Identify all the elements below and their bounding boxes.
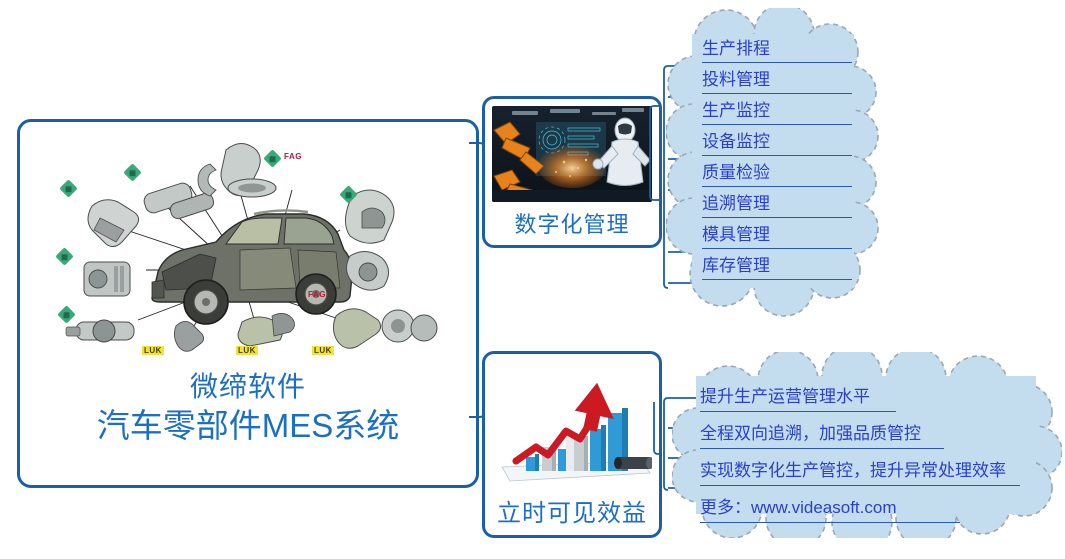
list-item-url[interactable]: 更多：www.videasoft.com [700, 493, 960, 523]
page-title: 微缔软件 汽车零部件MES系统 [20, 370, 476, 446]
brand-tag-luk: LUK [142, 346, 164, 355]
part-cluster-top [142, 143, 276, 220]
part-cluster-left [66, 200, 139, 342]
list-item[interactable]: 设备监控 [702, 127, 852, 156]
main-panel: FAG FAG LUK LUK LUK 微缔软件 汽车零部件MES系统 [17, 119, 479, 488]
brand-tag-luk: LUK [312, 346, 334, 355]
card-digital-management[interactable]: 数字化管理 [482, 96, 662, 248]
card-visible-benefit[interactable]: 立时可见效益 [482, 351, 662, 538]
brand-tag-fag: FAG [284, 152, 302, 161]
part-cluster-right [333, 190, 437, 348]
list-item[interactable]: 投料管理 [702, 65, 852, 94]
list-item[interactable]: 质量检验 [702, 158, 852, 187]
brand-tag-fag: FAG [308, 290, 326, 299]
growth-chart-thumbnail [492, 361, 652, 489]
cloud-benefits: 提升生产运营管理水平 全程双向追溯，加强品质管控 实现数字化生产管控，提升异常处… [672, 352, 1062, 538]
page-title-line-2: 汽车零部件MES系统 [20, 407, 476, 446]
list-item[interactable]: 实现数字化生产管控，提升异常处理效率 [700, 456, 1020, 486]
cloud-benefits-list: 提升生产运营管理水平 全程双向追溯，加强品质管控 实现数字化生产管控，提升异常处… [672, 352, 1062, 538]
car-parts-svg [40, 130, 460, 360]
brand-tag-luk: LUK [236, 346, 258, 355]
cloud-modules-list: 生产排程 投料管理 生产监控 设备监控 质量检验 追溯管理 模具管理 库存管理 [666, 8, 880, 328]
list-item[interactable]: 全程双向追溯，加强品质管控 [700, 419, 944, 449]
car-parts-illustration: FAG FAG LUK LUK LUK [40, 130, 460, 360]
digital-factory-svg [492, 106, 652, 202]
cloud-modules: 生产排程 投料管理 生产监控 设备监控 质量检验 追溯管理 模具管理 库存管理 [666, 8, 880, 328]
card-visible-benefit-label: 立时可见效益 [485, 493, 659, 528]
list-item[interactable]: 模具管理 [702, 220, 852, 249]
list-item[interactable]: 追溯管理 [702, 189, 852, 218]
list-item[interactable]: 生产排程 [702, 34, 852, 63]
card-digital-management-label: 数字化管理 [485, 207, 659, 239]
growth-chart-svg [492, 361, 652, 489]
list-item[interactable]: 库存管理 [702, 251, 852, 280]
page-title-line-1: 微缔软件 [20, 370, 476, 403]
list-item[interactable]: 生产监控 [702, 96, 852, 125]
list-item[interactable]: 提升生产运营管理水平 [700, 382, 896, 412]
digital-factory-thumbnail [492, 106, 652, 202]
